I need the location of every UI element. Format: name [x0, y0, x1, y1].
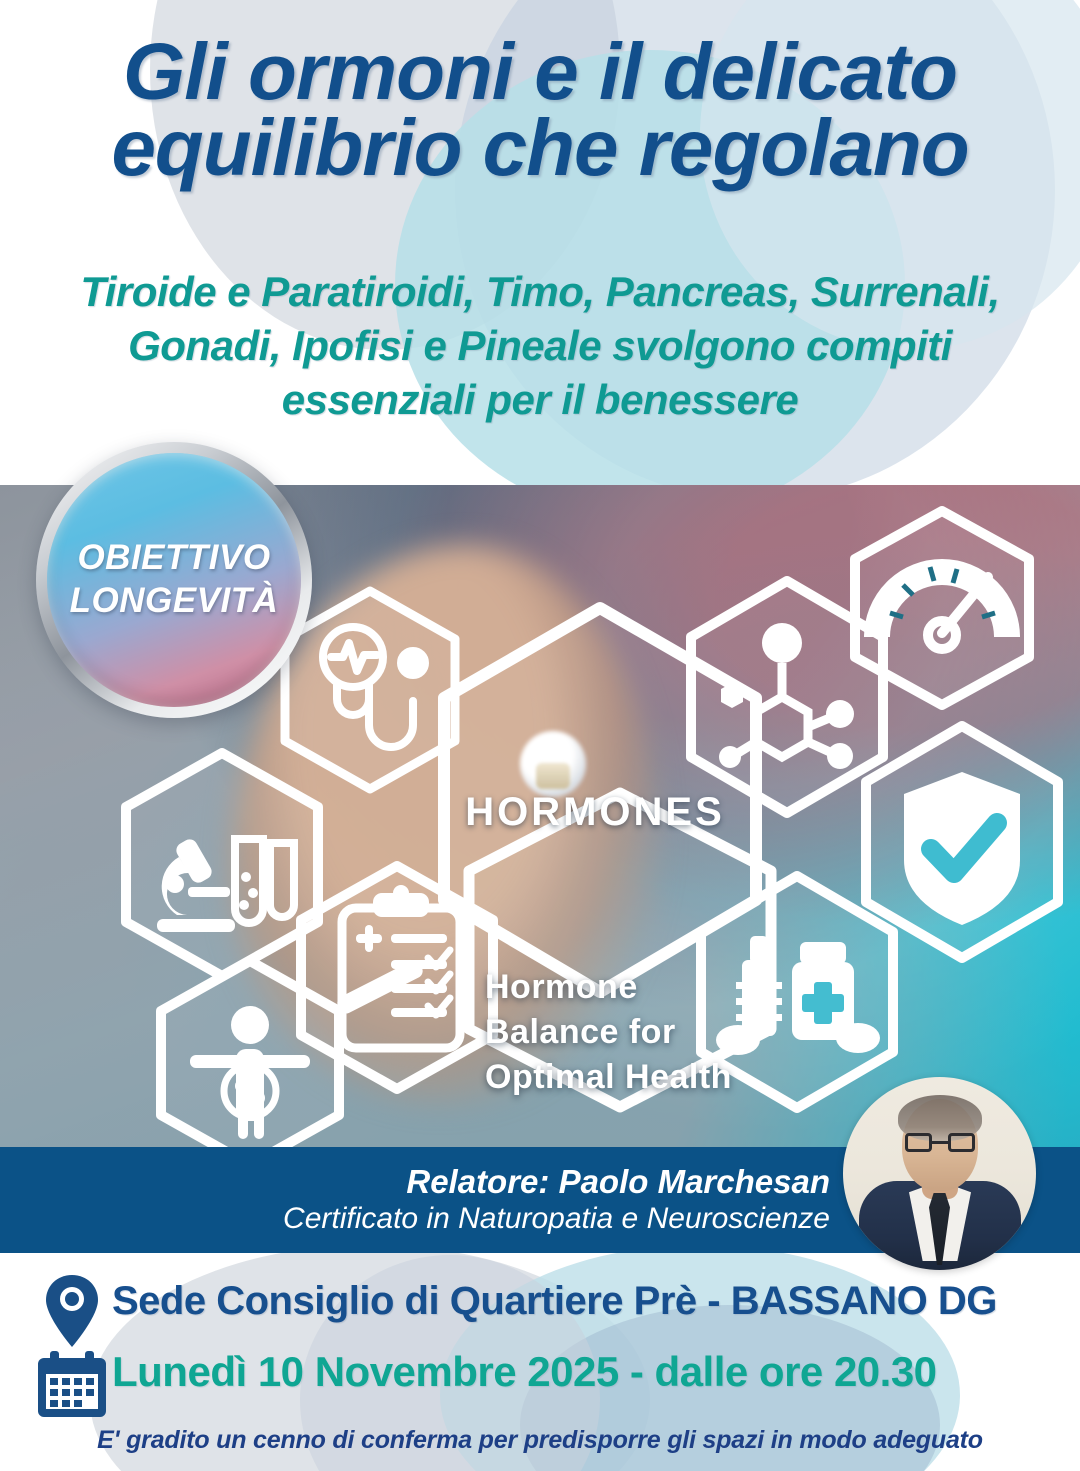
badge-line-1: OBIETTIVO	[77, 537, 270, 580]
speaker-name: Relatore: Paolo Marchesan	[406, 1163, 830, 1201]
rsvp-note: E' gradito un cenno di conferma per pred…	[0, 1426, 1080, 1455]
map-pin-icon	[44, 1273, 100, 1354]
avatar	[843, 1077, 1036, 1270]
objective-badge: OBIETTIVO LONGEVITÀ	[36, 442, 312, 718]
calendar-icon	[36, 1349, 108, 1424]
hero-tagline: Hormone Balance for Optimal Health	[485, 965, 805, 1100]
tagline-line-3: Optimal Health	[485, 1055, 805, 1100]
event-poster: Gli ormoni e il delicato equilibrio che …	[0, 0, 1080, 1471]
objective-badge-inner: OBIETTIVO LONGEVITÀ	[47, 453, 301, 707]
headline-line-2: equilibrio che regolano	[0, 110, 1080, 186]
subtitle-line-1: Tiroide e Paratiroidi, Timo, Pancreas, S…	[30, 265, 1050, 319]
tagline-line-2: Balance for	[485, 1010, 805, 1055]
footer: Sede Consiglio di Quartiere Prè - BASSAN…	[0, 1259, 1080, 1471]
subtitle: Tiroide e Paratiroidi, Timo, Pancreas, S…	[0, 265, 1080, 426]
speaker-role: Certificato in Naturopatia e Neuroscienz…	[283, 1201, 830, 1237]
hormones-label: HORMONES	[455, 790, 735, 835]
subtitle-line-2: Gonadi, Ipofisi e Pineale svolgono compi…	[30, 319, 1050, 373]
page-title: Gli ormoni e il delicato equilibrio che …	[0, 34, 1080, 186]
tagline-line-1: Hormone	[485, 965, 805, 1010]
portrait-glasses	[905, 1133, 975, 1152]
badge-line-2: LONGEVITÀ	[70, 580, 279, 623]
subtitle-line-3: essenziali per il benessere	[30, 373, 1050, 427]
hex-gauge	[845, 505, 1040, 715]
headline-line-1: Gli ormoni e il delicato	[0, 34, 1080, 110]
event-date: Lunedì 10 Novembre 2025 - dalle ore 20.3…	[112, 1348, 1068, 1396]
event-location: Sede Consiglio di Quartiere Prè - BASSAN…	[112, 1279, 1068, 1324]
